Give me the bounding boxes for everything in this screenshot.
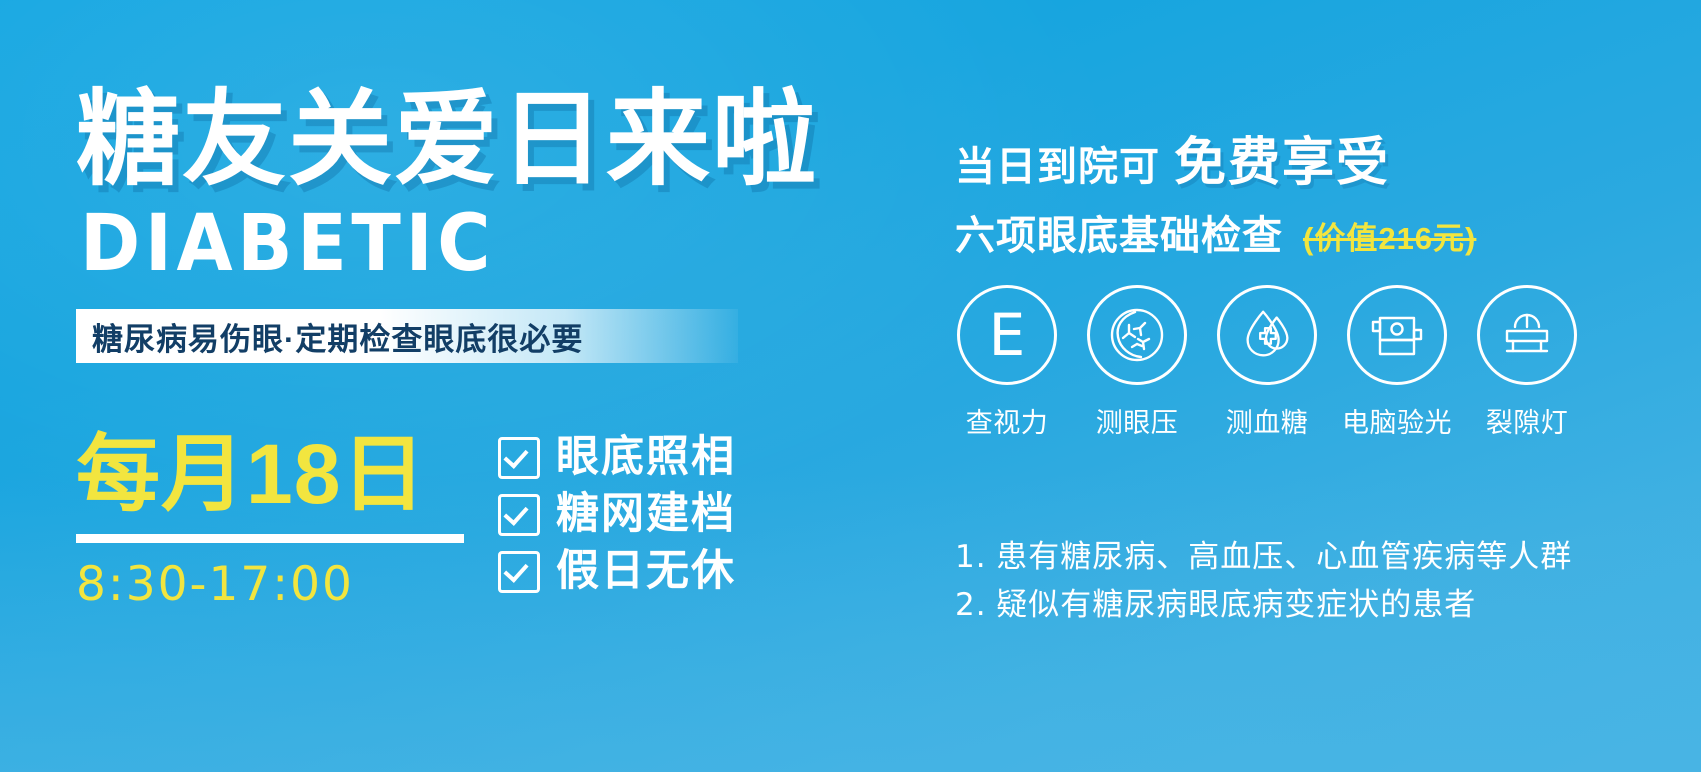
service-label: 测血糖: [1226, 401, 1309, 440]
checkbox-checked-icon[interactable]: [498, 494, 540, 536]
service-icon-row: E 查视力 测眼压: [955, 285, 1645, 440]
checklist-label: 假日无休: [556, 550, 736, 593]
note-number: 1.: [955, 539, 987, 575]
service-item-slit-lamp[interactable]: 裂隙灯: [1475, 285, 1579, 440]
date-divider: [76, 534, 464, 543]
checklist-label: 眼底照相: [556, 436, 736, 479]
offer-prefix-text: 当日到院可: [955, 134, 1160, 192]
auto-refractor-device-icon: [1347, 285, 1447, 385]
service-label: 电脑验光: [1342, 401, 1452, 440]
promo-banner: 糖友关爱日来啦 DIABETIC 糖尿病易伤眼·定期检查眼底很必要 每月18日 …: [0, 0, 1701, 772]
checkbox-checked-icon[interactable]: [498, 551, 540, 593]
blood-drop-cross-icon: [1217, 285, 1317, 385]
service-item-vision-test[interactable]: E 查视力: [955, 285, 1059, 440]
headline-chinese: 糖友关爱日来啦: [76, 86, 866, 195]
offer-detail-text: 六项眼底基础检查: [955, 203, 1283, 261]
right-content-column: 当日到院可 免费享受 六项眼底基础检查 (价值216元): [955, 120, 1645, 261]
eye-chart-letter-e-icon: E: [957, 285, 1057, 385]
subtitle-text: 糖尿病易伤眼·定期检查眼底很必要: [76, 314, 583, 359]
offer-headline-line-2: 六项眼底基础检查 (价值216元): [955, 203, 1645, 261]
eligibility-notes: 1. 患有糖尿病、高血压、心血管疾病等人群 2. 疑似有糖尿病眼底病变症状的患者: [955, 533, 1675, 629]
eyeball-icon: [1087, 285, 1187, 385]
subtitle-bar: 糖尿病易伤眼·定期检查眼底很必要: [76, 309, 738, 363]
service-item-blood-glucose[interactable]: 测血糖: [1215, 285, 1319, 440]
service-label: 查视力: [966, 401, 1049, 440]
letter-e-glyph: E: [989, 306, 1026, 364]
service-item-auto-refraction[interactable]: 电脑验光: [1345, 285, 1449, 440]
note-text: 疑似有糖尿病眼底病变症状的患者: [996, 587, 1476, 622]
slit-lamp-icon: [1477, 285, 1577, 385]
list-item[interactable]: 眼底照相: [498, 436, 736, 479]
service-label: 裂隙灯: [1486, 401, 1569, 440]
offer-price-strikethrough: (价值216元): [1303, 213, 1476, 258]
note-number: 2.: [955, 587, 987, 623]
checklist-label: 糖网建档: [556, 493, 736, 536]
note-text: 患有糖尿病、高血压、心血管疾病等人群: [996, 539, 1572, 574]
left-content-column: 糖友关爱日来啦 DIABETIC 糖尿病易伤眼·定期检查眼底很必要: [76, 86, 866, 363]
list-item[interactable]: 假日无休: [498, 550, 736, 593]
date-headline: 每月18日: [76, 432, 476, 516]
date-block: 每月18日 8:30-17:00: [76, 432, 476, 612]
time-range-text: 8:30-17:00: [76, 557, 476, 612]
checklist: 眼底照相 糖网建档 假日无休: [498, 432, 736, 607]
note-item: 2. 疑似有糖尿病眼底病变症状的患者: [955, 581, 1675, 629]
checkbox-checked-icon[interactable]: [498, 437, 540, 479]
service-label: 测眼压: [1096, 401, 1179, 440]
service-item-eye-pressure[interactable]: 测眼压: [1085, 285, 1189, 440]
headline-english: DIABETIC: [80, 205, 811, 283]
list-item[interactable]: 糖网建档: [498, 493, 736, 536]
offer-headline-line-1: 当日到院可 免费享受: [955, 120, 1645, 195]
note-item: 1. 患有糖尿病、高血压、心血管疾病等人群: [955, 533, 1675, 581]
date-and-checklist-row: 每月18日 8:30-17:00 眼底照相 糖网建档 假日无休: [76, 432, 866, 612]
offer-emphasis-text: 免费享受: [1174, 120, 1390, 195]
